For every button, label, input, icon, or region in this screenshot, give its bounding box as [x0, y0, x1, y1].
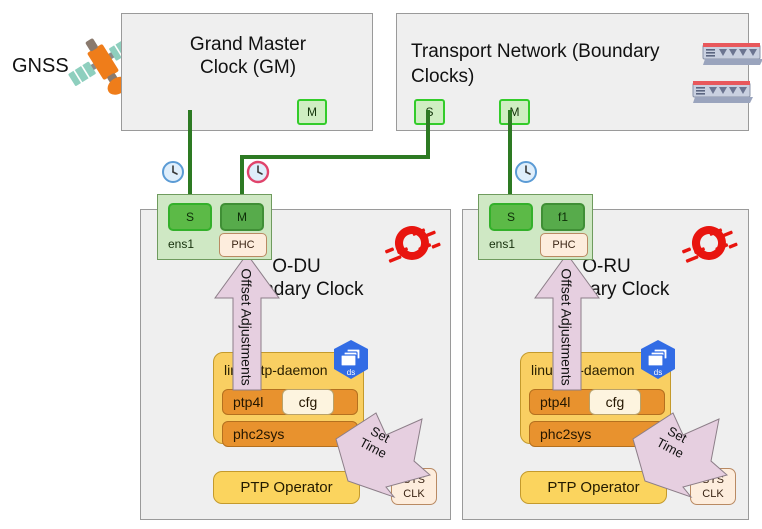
- grand-master-clock-box[interactable]: Grand Master Clock (GM) M: [121, 13, 373, 131]
- cfg-label-oru: cfg: [606, 394, 625, 410]
- gm-title-line2: Clock (GM): [122, 56, 374, 79]
- o-ru-port-f1[interactable]: f1: [541, 203, 585, 231]
- ptp4l-label-odu: ptp4l: [223, 394, 263, 410]
- ptp-operator-label-oru: PTP Operator: [547, 479, 639, 496]
- ptp4l-label-oru: ptp4l: [530, 394, 570, 410]
- kubernetes-daemonset-icon-oru: ds: [636, 338, 680, 382]
- grand-master-clock-title: Grand Master Clock (GM): [122, 33, 374, 79]
- phc2sys-label-oru: phc2sys: [530, 426, 591, 442]
- gm-port-m-label: M: [307, 105, 317, 119]
- o-ru-port-s[interactable]: S: [489, 203, 533, 231]
- phc2sys-label-odu: phc2sys: [223, 426, 284, 442]
- offset-adjustments-label-oru: Offset Adjustments: [533, 272, 601, 382]
- o-ru-interface-label: ens1: [489, 237, 515, 251]
- cfg-label-odu: cfg: [299, 394, 318, 410]
- o-du-phc-label: PHC: [231, 239, 254, 251]
- svg-text:ds: ds: [347, 368, 355, 377]
- ptp-operator-label-odu: PTP Operator: [240, 479, 332, 496]
- link-transport-s-horizontal: [240, 155, 430, 159]
- gm-title-line1: Grand Master: [190, 34, 306, 55]
- cfg-box-oru[interactable]: cfg: [589, 389, 641, 415]
- gm-port-m[interactable]: M: [297, 99, 327, 125]
- o-du-title-line2: Boundary Clock: [141, 278, 452, 301]
- o-ru-title-line2: Ordinary Clock: [463, 278, 750, 301]
- o-ru-phc-label: PHC: [552, 239, 575, 251]
- o-du-interface-label: ens1: [168, 237, 194, 251]
- o-du-nic-ens1[interactable]: S M ens1 PHC: [157, 194, 272, 260]
- clock-red-icon-odu: [246, 160, 270, 184]
- gnss-signal-lost-icon-oru: [681, 220, 737, 272]
- kubernetes-daemonset-icon-odu: ds: [329, 338, 373, 382]
- o-du-port-s[interactable]: S: [168, 203, 212, 231]
- o-du-port-m[interactable]: M: [220, 203, 264, 231]
- network-switch-icon-1: [692, 80, 754, 106]
- clock-blue-icon-odu: [161, 160, 185, 184]
- clock-blue-icon-oru: [514, 160, 538, 184]
- o-ru-phc[interactable]: PHC: [540, 233, 588, 257]
- o-ru-port-s-label: S: [507, 210, 515, 224]
- o-du-phc[interactable]: PHC: [219, 233, 267, 257]
- offset-adjustments-label-odu: Offset Adjustments: [213, 272, 281, 382]
- transport-network-box[interactable]: Transport Network (Boundary Clocks) S M: [396, 13, 749, 131]
- cfg-box-odu[interactable]: cfg: [282, 389, 334, 415]
- o-du-port-m-label: M: [237, 210, 247, 224]
- network-switch-icon-2: [702, 42, 762, 68]
- transport-network-title: Transport Network (Boundary Clocks): [411, 39, 711, 89]
- transport-port-m[interactable]: M: [499, 99, 530, 125]
- link-transport-s-vertical: [426, 110, 430, 159]
- o-ru-nic-ens1[interactable]: S f1 ens1 PHC: [478, 194, 593, 260]
- o-ru-port-f1-label: f1: [558, 210, 568, 224]
- o-du-port-s-label: S: [186, 210, 194, 224]
- svg-text:ds: ds: [654, 368, 662, 377]
- tn-title-line1: Transport Network: [411, 41, 567, 62]
- gnss-signal-lost-icon-odu: [384, 220, 440, 272]
